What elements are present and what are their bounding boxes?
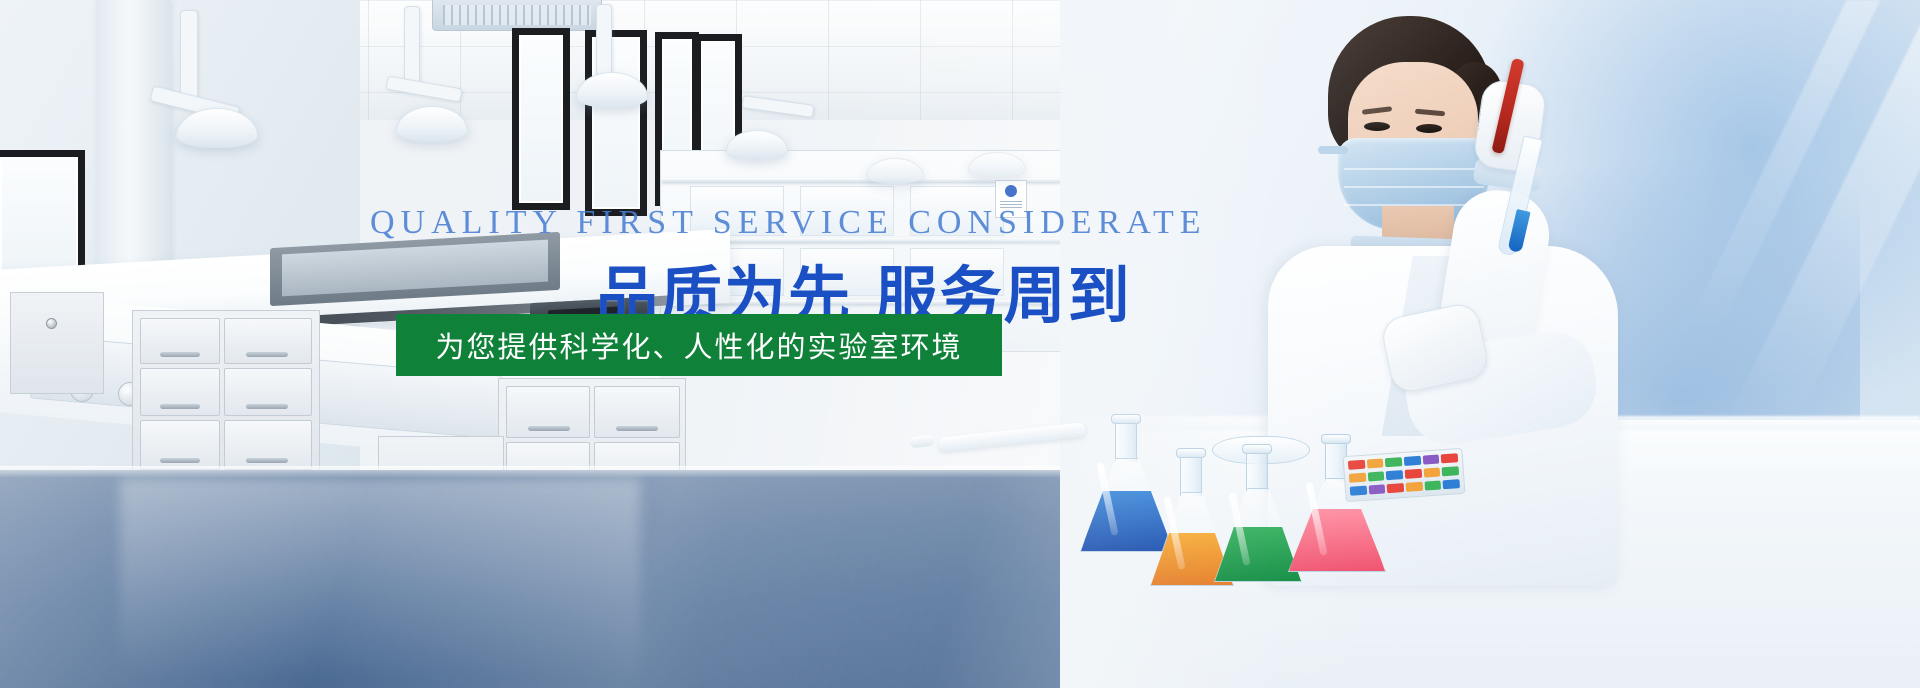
hero-banner: QUALITY FIRST SERVICE CONSIDERATE 品质为先 服… — [0, 0, 1920, 688]
banner-subtitle: 为您提供科学化、人性化的实验室环境 — [435, 324, 962, 366]
english-tagline: QUALITY FIRST SERVICE CONSIDERATE — [370, 204, 1207, 242]
subtitle-green-bar: 为您提供科学化、人性化的实验室环境 — [396, 314, 1002, 376]
banner-copy: QUALITY FIRST SERVICE CONSIDERATE 品质为先 服… — [0, 0, 1920, 688]
